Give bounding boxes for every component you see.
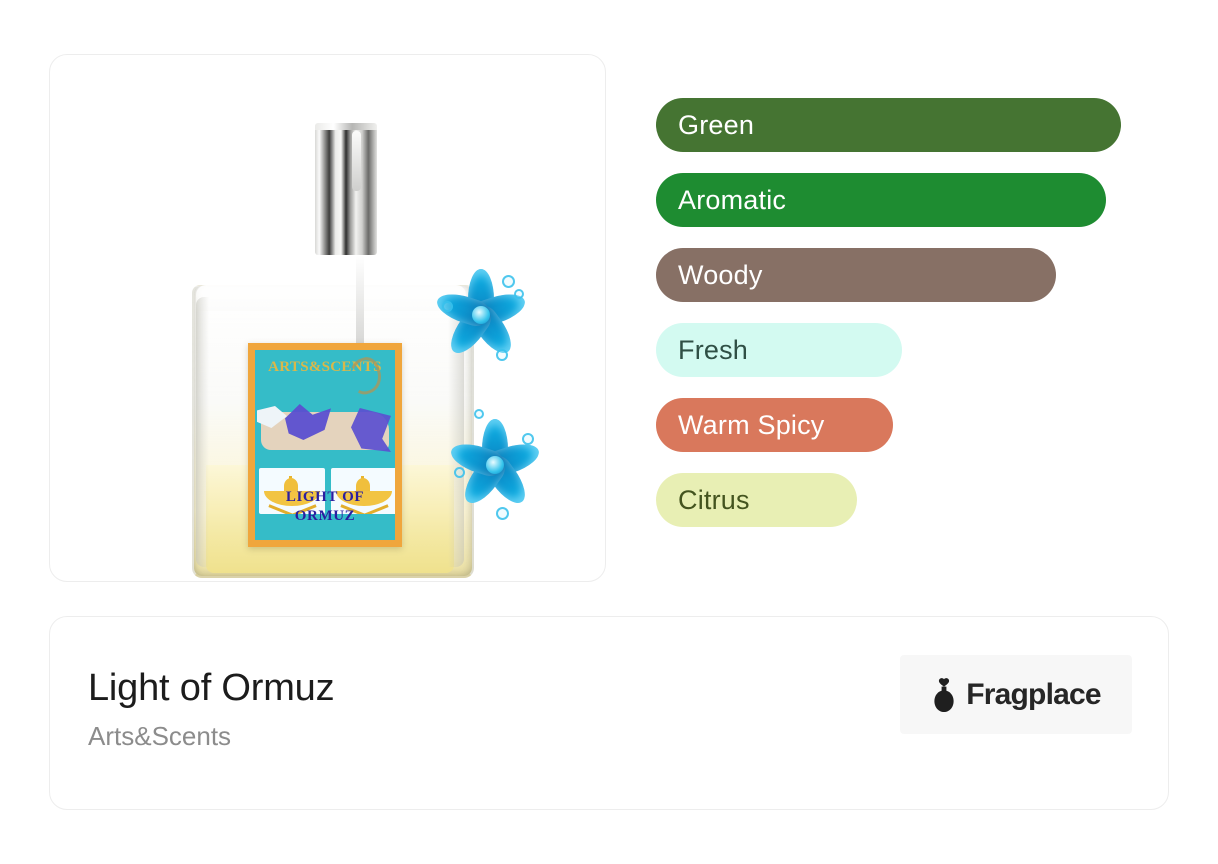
water-droplet-icon bbox=[442, 301, 453, 312]
product-title: Light of Ormuz bbox=[88, 665, 334, 711]
accord-bar[interactable]: Woody bbox=[656, 248, 1056, 302]
perfume-bottle-heart-icon bbox=[931, 678, 957, 712]
blue-flower-icon-bottom bbox=[452, 415, 538, 515]
water-droplet-icon bbox=[496, 507, 509, 520]
water-droplet-icon bbox=[454, 467, 465, 478]
product-info-card: Light of Ormuz Arts&Scents Fragplace bbox=[49, 616, 1169, 810]
bottle-label: ARTS&SCENTS bbox=[248, 343, 402, 547]
product-info-text: Light of Ormuz Arts&Scents bbox=[88, 665, 334, 751]
water-droplet-icon bbox=[514, 289, 524, 299]
flower-core bbox=[472, 306, 490, 324]
flower-core bbox=[486, 456, 504, 474]
accord-label: Fresh bbox=[678, 335, 748, 366]
accord-bar[interactable]: Green bbox=[656, 98, 1121, 152]
perfume-bottle-illustration: ARTS&SCENTS bbox=[170, 85, 490, 565]
accord-bar[interactable]: Citrus bbox=[656, 473, 857, 527]
accord-label: Aromatic bbox=[678, 185, 786, 216]
bottle-left-edge bbox=[196, 297, 209, 567]
bottle-cap-upper bbox=[315, 125, 377, 255]
blue-flower-icon-top bbox=[438, 265, 524, 365]
product-image: ARTS&SCENTS bbox=[50, 55, 605, 581]
main-accords-chart: GreenAromaticWoodyFreshWarm SpicyCitrus bbox=[656, 98, 1136, 548]
water-droplet-icon bbox=[502, 275, 515, 288]
label-title-text: LIGHT OF ORMUZ bbox=[255, 488, 395, 526]
product-page: ARTS&SCENTS bbox=[0, 0, 1218, 864]
label-title-line-2: ORMUZ bbox=[295, 508, 356, 524]
accord-label: Woody bbox=[678, 260, 763, 291]
accord-bar[interactable]: Aromatic bbox=[656, 173, 1106, 227]
water-droplet-icon bbox=[522, 433, 534, 445]
bottle-cap-lower-sheen bbox=[356, 255, 364, 351]
bottle-cap-lower bbox=[312, 243, 380, 359]
fragplace-wordmark: Fragplace bbox=[966, 679, 1101, 711]
fragplace-logo-badge[interactable]: Fragplace bbox=[900, 655, 1132, 734]
accord-label: Green bbox=[678, 110, 754, 141]
accord-bar[interactable]: Fresh bbox=[656, 323, 902, 377]
product-image-card[interactable]: ARTS&SCENTS bbox=[49, 54, 606, 582]
bottle-cap-top bbox=[315, 123, 377, 130]
label-artwork bbox=[255, 402, 395, 464]
water-droplet-icon bbox=[474, 409, 484, 419]
product-brand[interactable]: Arts&Scents bbox=[88, 721, 334, 751]
accord-bar[interactable]: Warm Spicy bbox=[656, 398, 893, 452]
bottle-cap-slot bbox=[352, 131, 361, 191]
accord-label: Citrus bbox=[678, 485, 750, 516]
water-droplet-icon bbox=[496, 349, 508, 361]
accord-label: Warm Spicy bbox=[678, 410, 825, 441]
label-title-line-1: LIGHT OF bbox=[286, 489, 364, 505]
